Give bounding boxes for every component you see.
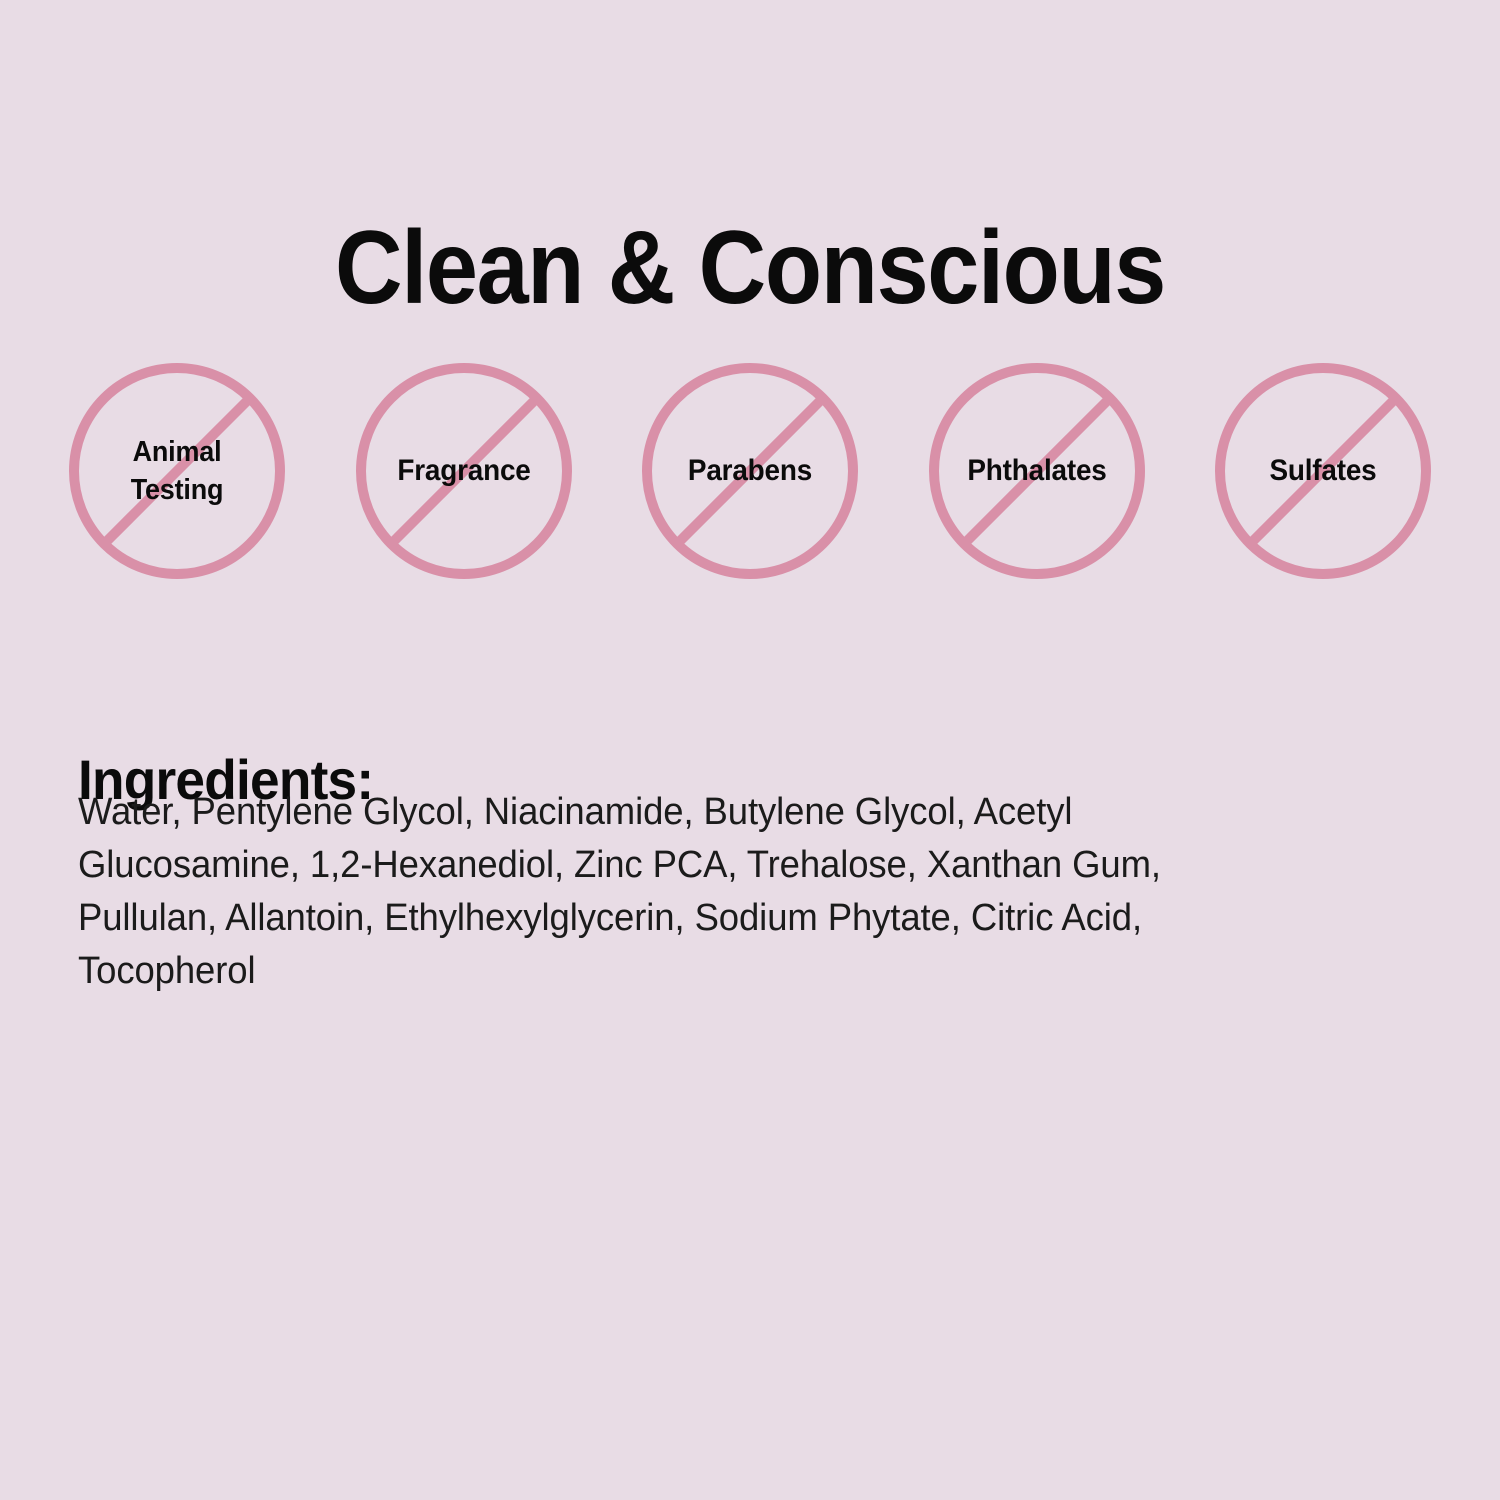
badge-fragrance: Fragrance bbox=[355, 362, 573, 580]
ingredients-line: Glucosamine, 1,2-Hexanediol, Zinc PCA, T… bbox=[78, 839, 1326, 892]
ingredients-line: Pullulan, Allantoin, Ethylhexylglycerin,… bbox=[78, 892, 1326, 945]
badge-animal-testing: Animal Testing bbox=[68, 362, 286, 580]
ingredients-list: Water, Pentylene Glycol, Niacinamide, Bu… bbox=[78, 786, 1326, 998]
ingredients-line: Tocopherol bbox=[78, 945, 1326, 998]
free-from-badge-row: Animal Testing Fragrance Parabens bbox=[68, 362, 1432, 580]
no-symbol-icon bbox=[928, 362, 1146, 580]
badge-phthalates: Phthalates bbox=[928, 362, 1146, 580]
badge-parabens: Parabens bbox=[641, 362, 859, 580]
clean-conscious-panel: Clean & Conscious Animal Testing Fragran… bbox=[0, 0, 1500, 1500]
badge-sulfates: Sulfates bbox=[1214, 362, 1432, 580]
page-title: Clean & Conscious bbox=[75, 212, 1425, 324]
no-symbol-icon bbox=[1214, 362, 1432, 580]
no-symbol-icon bbox=[68, 362, 286, 580]
no-symbol-icon bbox=[641, 362, 859, 580]
ingredients-line: Water, Pentylene Glycol, Niacinamide, Bu… bbox=[78, 786, 1326, 839]
no-symbol-icon bbox=[355, 362, 573, 580]
